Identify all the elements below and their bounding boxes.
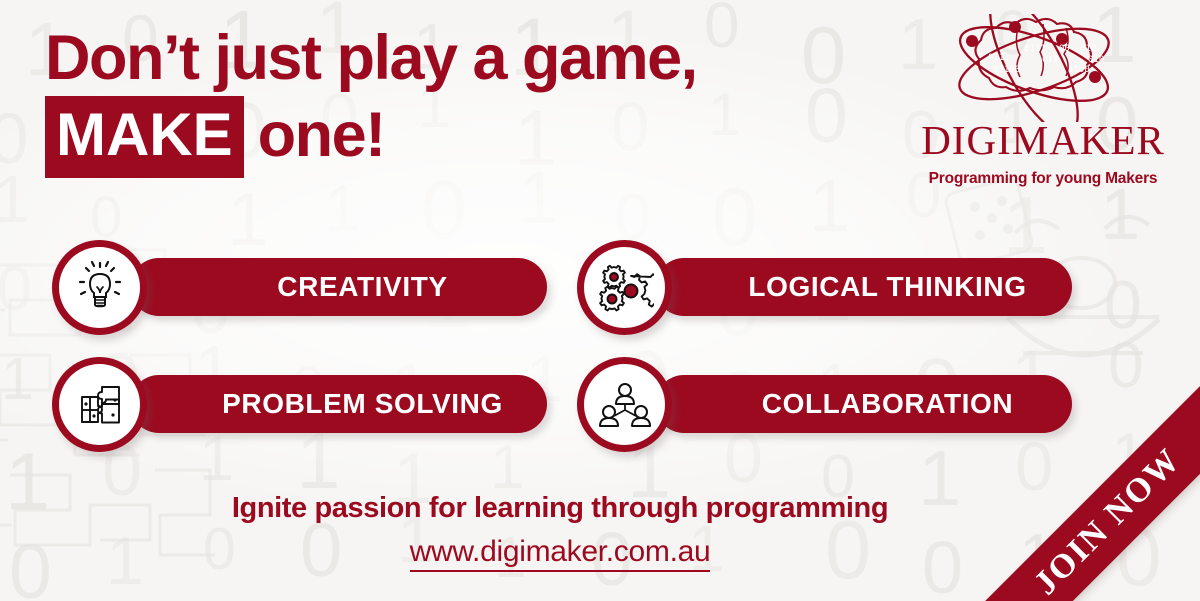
feature-pill[interactable]: CREATIVITY: [130, 258, 547, 316]
svg-text:00: 00: [1059, 44, 1070, 54]
feature-row-1: CREATIVITY: [52, 240, 1072, 335]
binary-digit: 0: [1104, 271, 1142, 339]
binary-digit: 1: [0, 166, 30, 233]
feature-creativity[interactable]: CREATIVITY: [52, 240, 547, 335]
headline-line-2: MAKE one!: [45, 96, 697, 178]
join-now-ribbon[interactable]: JOIN NOW: [950, 351, 1200, 601]
binary-digit: 1: [1, 350, 34, 409]
feature-badge: [52, 240, 147, 335]
binary-digit: 0: [0, 258, 32, 321]
binary-digit: 1: [708, 85, 741, 145]
gears-icon: [596, 259, 654, 317]
logo-tagline: Programming for young Makers: [912, 170, 1174, 188]
feature-label: PROBLEM SOLVING: [174, 388, 503, 420]
headline-line-1: Don’t just play a game,: [45, 26, 697, 90]
svg-text:01100: 01100: [993, 65, 1020, 75]
svg-text:011: 011: [1042, 55, 1058, 65]
binary-digit: 0: [805, 78, 848, 155]
feature-badge: [577, 357, 672, 452]
feature-badge: [52, 357, 147, 452]
binary-digit: 0: [801, 16, 846, 97]
svg-text:0111: 0111: [988, 53, 1010, 63]
ribbon-band[interactable]: JOIN NOW: [950, 352, 1200, 601]
feature-badge: [577, 240, 672, 335]
feature-row-2: PROBLEM SOLVING: [52, 357, 1072, 452]
feature-label: CREATIVITY: [229, 271, 447, 303]
headline: Don’t just play a game, MAKE one!: [45, 26, 697, 178]
headline-line-2-rest: one!: [258, 104, 385, 171]
svg-text:010: 010: [1080, 44, 1096, 54]
digimaker-logo[interactable]: 0111 0111 00 010 011 010 01100 1100 DIGI…: [912, 14, 1174, 188]
binary-digit: 0: [421, 168, 467, 251]
binary-digit: 1: [324, 175, 361, 241]
footer-url-text[interactable]: www.digimaker.com.au: [410, 535, 711, 572]
binary-digit: 0: [704, 0, 740, 57]
svg-text:0111: 0111: [1024, 44, 1046, 54]
feature-list: CREATIVITY: [52, 240, 1072, 452]
people-network-icon: [596, 377, 654, 433]
logo-wordmark: DIGIMAKER: [912, 120, 1174, 161]
feature-problem-solving[interactable]: PROBLEM SOLVING: [52, 357, 547, 452]
puzzle-pieces-icon: [72, 377, 128, 433]
feature-label: LOGICAL THINKING: [700, 271, 1026, 303]
binary-digit: 0: [90, 189, 122, 247]
promo-banner: 1011111001010100110100101011010010110100…: [0, 0, 1200, 601]
binary-digit: 1: [1100, 179, 1140, 251]
headline-highlight-make: MAKE: [45, 96, 244, 178]
lightbulb-icon: [72, 260, 128, 316]
binary-digit: 1: [809, 170, 850, 243]
binary-digit: 0: [0, 104, 29, 175]
brain-atom-icon: 0111 0111 00 010 011 010 01100 1100: [912, 14, 1174, 122]
feature-pill[interactable]: PROBLEM SOLVING: [130, 375, 547, 433]
feature-logical-thinking[interactable]: LOGICAL THINKING: [577, 240, 1072, 335]
feature-pill[interactable]: LOGICAL THINKING: [655, 258, 1072, 316]
svg-text:010: 010: [1088, 55, 1104, 65]
svg-text:1100: 1100: [1068, 65, 1090, 75]
ribbon-label: JOIN NOW: [1027, 441, 1189, 601]
